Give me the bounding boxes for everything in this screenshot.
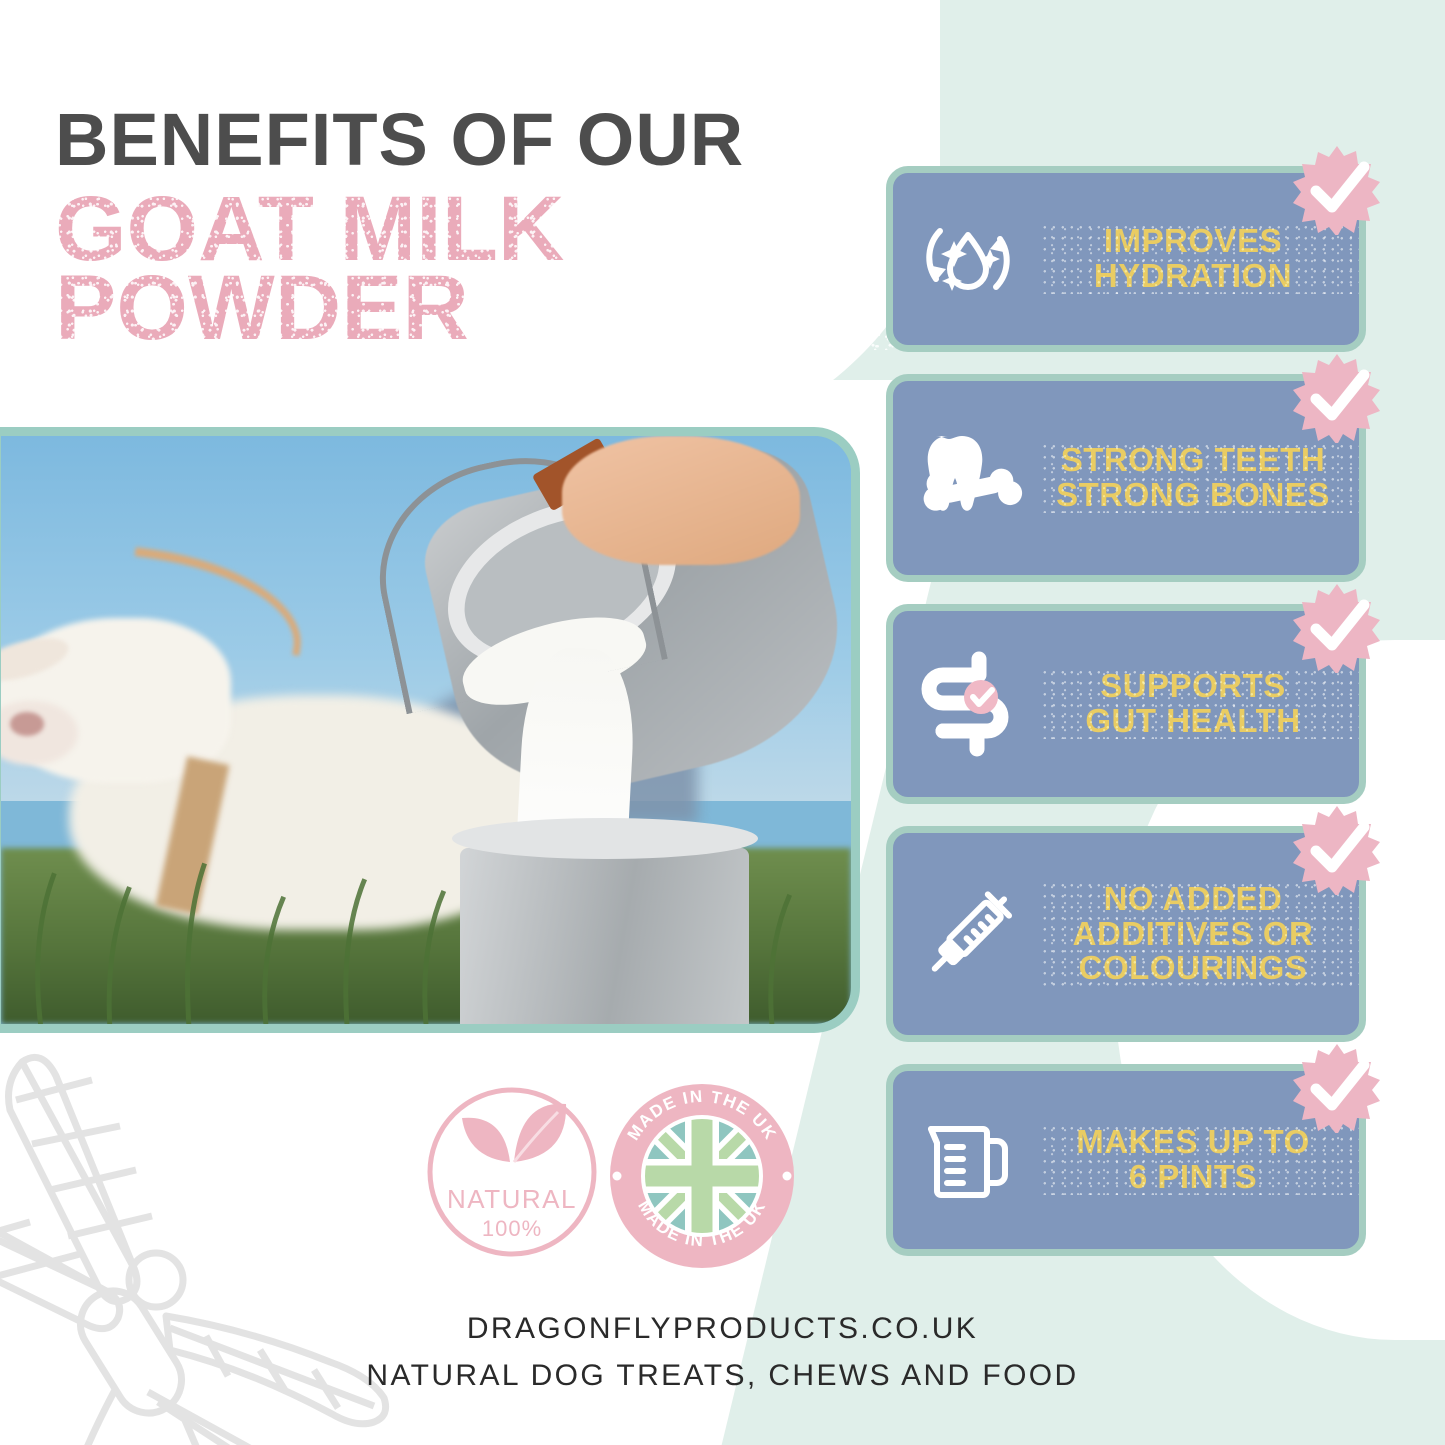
benefit-card-supports-gut-health[interactable]: SUPPORTS GUT HEALTH <box>886 604 1366 804</box>
headline-line-1: BENEFITS OF OUR <box>55 104 895 175</box>
syringe-icon <box>893 880 1043 988</box>
natural-seal-line-1: NATURAL <box>447 1184 577 1214</box>
benefit-card-improves-hydration[interactable]: IMPROVES HYDRATION <box>886 166 1366 352</box>
check-badge-icon <box>1291 143 1383 235</box>
benefit-card-label: STRONG TEETH STRONG BONES <box>1043 443 1359 513</box>
benefit-card-label: MAKES UP TO 6 PINTS <box>1043 1125 1359 1195</box>
benefit-label-line-1: SUPPORTS <box>1043 669 1343 704</box>
headline-line-3: POWDER <box>55 266 895 351</box>
benefit-label-line-2: 6 PINTS <box>1043 1160 1343 1195</box>
water-droplet-refresh-icon <box>893 205 1043 313</box>
natural-seal-line-2: 100% <box>482 1216 542 1241</box>
measuring-jug-icon <box>893 1105 1043 1215</box>
footer-website[interactable]: DRAGONFLYPRODUCTS.CO.UK <box>0 1306 1445 1353</box>
benefit-label-line-1: STRONG TEETH <box>1043 443 1343 478</box>
tooth-and-bone-icon <box>893 422 1043 534</box>
check-badge-icon <box>1291 581 1383 673</box>
infographic-poster: BENEFITS OF OUR GOAT MILK POWDER <box>0 0 1445 1445</box>
benefit-label-line-2: STRONG BONES <box>1043 478 1343 513</box>
benefit-card-label: NO ADDED ADDITIVES OR COLOURINGS <box>1043 882 1359 987</box>
benefit-label-line-2: ADDITIVES OR <box>1043 917 1343 952</box>
benefit-label-line-3: COLOURINGS <box>1043 951 1343 986</box>
check-badge-icon <box>1291 351 1383 443</box>
product-photo <box>0 427 860 1033</box>
check-badge-icon <box>1291 1041 1383 1133</box>
footer-tagline: NATURAL DOG TREATS, CHEWS AND FOOD <box>0 1353 1445 1400</box>
benefit-card-label: SUPPORTS GUT HEALTH <box>1043 669 1359 739</box>
footer: DRAGONFLYPRODUCTS.CO.UK NATURAL DOG TREA… <box>0 1306 1445 1399</box>
check-badge-icon <box>1291 803 1383 895</box>
made-in-uk-seal: MADE IN THE UK MADE IN THE UK <box>604 1078 800 1274</box>
headline-block: BENEFITS OF OUR GOAT MILK POWDER <box>55 104 895 350</box>
intestine-check-icon <box>893 649 1043 759</box>
natural-100-seal: NATURAL 100% <box>424 1084 600 1260</box>
benefit-label-line-2: GUT HEALTH <box>1043 704 1343 739</box>
benefits-list: IMPROVES HYDRATION <box>886 166 1366 1278</box>
benefit-card-makes-up-to-6-pints[interactable]: MAKES UP TO 6 PINTS <box>886 1064 1366 1256</box>
benefit-card-no-added-additives[interactable]: NO ADDED ADDITIVES OR COLOURINGS <box>886 826 1366 1042</box>
benefit-label-line-2: HYDRATION <box>1043 259 1343 294</box>
benefit-card-strong-teeth-bones[interactable]: STRONG TEETH STRONG BONES <box>886 374 1366 582</box>
